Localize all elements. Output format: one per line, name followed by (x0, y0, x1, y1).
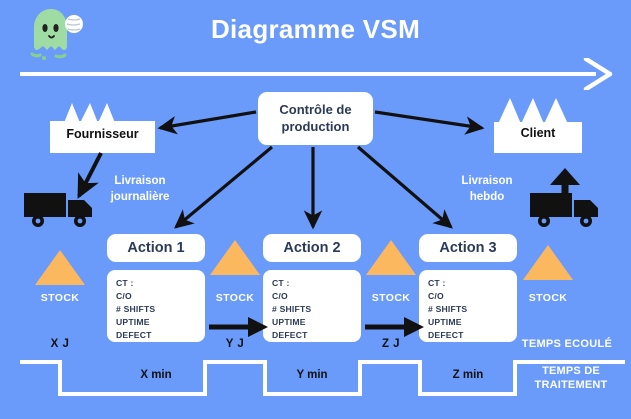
stock-lead-time: Z J (359, 338, 423, 350)
processing-time-3: Z min (422, 369, 514, 381)
metric-shifts: # SHIFTS (272, 303, 361, 316)
outbound-delivery-line2: hebdo (470, 191, 505, 203)
production-control-label: Contrôle de production (279, 102, 351, 135)
material-flow-arrow-icon (208, 315, 270, 337)
metric-defect: DEFECT (428, 329, 517, 342)
metric-ct: CT : (116, 277, 205, 290)
inventory-triangle-icon (35, 250, 85, 285)
action-2-node[interactable]: Action 2 (263, 234, 361, 262)
metric-co: C/O (116, 290, 205, 303)
metric-uptime: UPTIME (116, 316, 205, 329)
action-1-title-label: Action 1 (127, 240, 184, 256)
page-title: Diagramme VSM (0, 14, 631, 45)
inbound-delivery-label: Livraison journalière (94, 174, 186, 205)
stock-lead-time: Y J (203, 338, 267, 350)
metric-ct: CT : (428, 277, 517, 290)
production-control-node[interactable]: Contrôle de production (258, 92, 373, 145)
metric-uptime: UPTIME (272, 316, 361, 329)
metric-co: C/O (428, 290, 517, 303)
shipment-up-arrow-icon (547, 168, 583, 208)
stock-label: STOCK (508, 292, 588, 304)
inbound-delivery-line1: Livraison (114, 175, 165, 187)
inventory-triangle-icon (366, 240, 416, 275)
vsm-diagram-canvas: Diagramme VSM Fournisseur Client Contrôl… (0, 0, 631, 419)
metric-uptime: UPTIME (428, 316, 517, 329)
inbound-truck-icon (22, 188, 100, 230)
processing-time-2: Y min (266, 369, 358, 381)
supplier-label: Fournisseur (50, 127, 155, 141)
processing-time-1: X min (110, 369, 202, 381)
action-1-node[interactable]: Action 1 (107, 234, 205, 262)
metric-defect: DEFECT (272, 329, 361, 342)
inbound-delivery-line2: journalière (111, 191, 170, 203)
supplier-node[interactable]: Fournisseur (50, 101, 155, 153)
action-3-data-box: CT : C/O # SHIFTS UPTIME DEFECT (419, 270, 517, 342)
processing-time-line1: TEMPS DE (542, 365, 600, 377)
action-1-data-box: CT : C/O # SHIFTS UPTIME DEFECT (107, 270, 205, 342)
outbound-delivery-line1: Livraison (461, 175, 512, 187)
stock-lead-time: X J (28, 338, 92, 350)
inventory-triangle-icon (523, 245, 573, 280)
action-3-node[interactable]: Action 3 (419, 234, 517, 262)
customer-node[interactable]: Client (488, 96, 588, 153)
material-flow-arrow-icon (364, 315, 426, 337)
inventory-triangle-icon (210, 240, 260, 275)
processing-time-line2: TRAITEMENT (535, 379, 608, 391)
action-3-title-label: Action 3 (439, 240, 496, 256)
metric-defect: DEFECT (116, 329, 205, 342)
stock-label: STOCK (20, 292, 100, 304)
customer-label: Client (488, 126, 588, 140)
production-control-line1: Contrôle de (279, 102, 351, 117)
processing-time-label: TEMPS DE TRAITEMENT (512, 364, 630, 393)
metric-co: C/O (272, 290, 361, 303)
metric-shifts: # SHIFTS (428, 303, 517, 316)
elapsed-time-label: TEMPS ECOULÉ (505, 338, 629, 350)
metric-shifts: # SHIFTS (116, 303, 205, 316)
action-2-title-label: Action 2 (283, 240, 340, 256)
production-control-line2: production (282, 119, 350, 134)
metric-ct: CT : (272, 277, 361, 290)
outbound-delivery-label: Livraison hebdo (444, 174, 530, 205)
action-2-data-box: CT : C/O # SHIFTS UPTIME DEFECT (263, 270, 361, 342)
timeline-direction-arrow-icon (18, 58, 616, 90)
